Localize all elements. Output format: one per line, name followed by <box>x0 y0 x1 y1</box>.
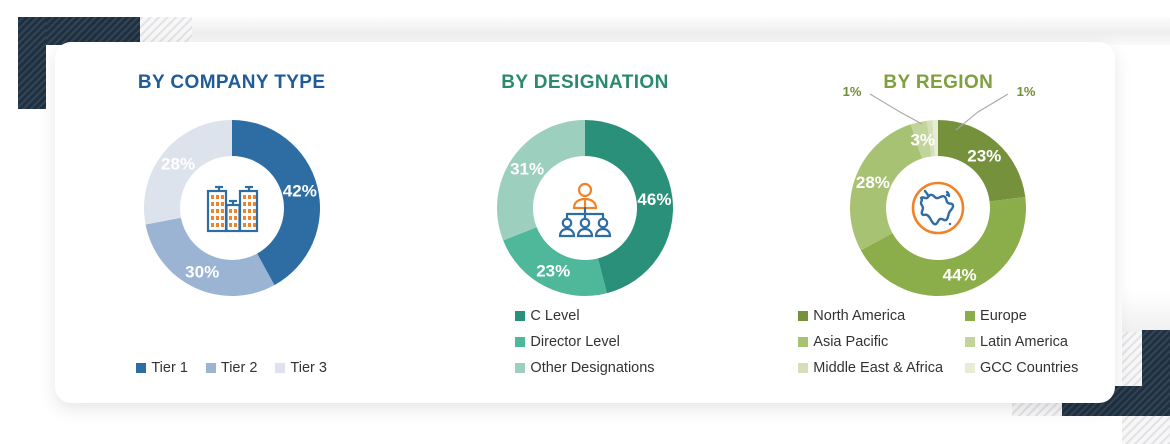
panel-designation: BY DESIGNATION 46%23%31% <box>408 42 761 403</box>
legend-stack: C LevelDirector LevelOther Designations <box>515 303 654 381</box>
bottom-right-navy-stem <box>1142 330 1170 416</box>
slice-percent-label: 23% <box>536 261 570 280</box>
legend-grid: North AmericaEuropeAsia PacificLatin Ame… <box>762 303 1115 381</box>
legend-item[interactable]: North America <box>798 303 943 329</box>
legend-item[interactable]: Tier 1 <box>136 355 188 381</box>
legend-item[interactable]: Europe <box>965 303 1078 329</box>
callout-label-left: 1% <box>843 84 862 99</box>
slice-percent-label: 46% <box>637 190 671 209</box>
legend-swatch <box>206 363 216 373</box>
globe-icon <box>901 171 975 245</box>
legend-swatch <box>515 311 525 321</box>
infographic-card: BY COMPANY TYPE 42%30%28% <box>55 42 1115 403</box>
legend-swatch <box>965 311 975 321</box>
legend-item[interactable]: Tier 3 <box>275 355 327 381</box>
bottom-right-gradient <box>1122 290 1170 332</box>
panel-title-region: BY REGION <box>762 72 1115 94</box>
legend-item[interactable]: Asia Pacific <box>798 329 943 355</box>
legend-label: Director Level <box>530 329 619 355</box>
legend-label: Other Designations <box>530 355 654 381</box>
legend-item[interactable]: GCC Countries <box>965 355 1078 381</box>
panel-region: BY REGION 23%44%28%3% 1% 1% <box>762 42 1115 403</box>
legend-label: Europe <box>980 303 1027 329</box>
panel-company-type: BY COMPANY TYPE 42%30%28% <box>55 42 408 403</box>
slice-percent-label: 42% <box>282 182 316 201</box>
legend-swatch <box>515 363 525 373</box>
office-buildings-icon <box>195 171 269 245</box>
legend-label: C Level <box>530 303 579 329</box>
donut-chart-company-type: 42%30%28% <box>132 108 332 308</box>
slice-percent-label: 30% <box>185 262 219 281</box>
legend-swatch <box>965 363 975 373</box>
legend-item[interactable]: C Level <box>515 303 579 329</box>
legend-designation: C LevelDirector LevelOther Designations <box>408 303 761 381</box>
legend-label: Tier 2 <box>221 355 258 381</box>
slice-percent-label: 44% <box>943 266 977 285</box>
legend-label: GCC Countries <box>980 355 1078 381</box>
legend-label: Asia Pacific <box>813 329 888 355</box>
slice-percent-label: 28% <box>856 173 890 192</box>
slice-percent-label: 3% <box>911 131 936 150</box>
org-hierarchy-icon <box>548 171 622 245</box>
legend-item[interactable]: Tier 2 <box>206 355 258 381</box>
legend-item[interactable]: Director Level <box>515 329 619 355</box>
legend-row: Tier 1Tier 2Tier 3 <box>55 355 408 381</box>
donut-chart-region: 23%44%28%3% 1% 1% <box>838 108 1038 308</box>
panel-title-company-type: BY COMPANY TYPE <box>55 72 408 94</box>
legend-label: North America <box>813 303 905 329</box>
slice-percent-label: 31% <box>510 160 544 179</box>
legend-swatch <box>515 337 525 347</box>
legend-swatch <box>798 363 808 373</box>
panel-title-designation: BY DESIGNATION <box>408 72 761 94</box>
legend-label: Latin America <box>980 329 1068 355</box>
top-gradient-band <box>192 17 1170 45</box>
donut-chart-designation: 46%23%31% <box>485 108 685 308</box>
top-left-navy-stem <box>18 17 46 109</box>
legend-item[interactable]: Middle East & Africa <box>798 355 943 381</box>
legend-label: Middle East & Africa <box>813 355 943 381</box>
legend-region: North AmericaEuropeAsia PacificLatin Ame… <box>762 303 1115 381</box>
legend-item[interactable]: Latin America <box>965 329 1078 355</box>
legend-swatch <box>275 363 285 373</box>
legend-label: Tier 3 <box>290 355 327 381</box>
legend-swatch <box>798 311 808 321</box>
legend-company-type: Tier 1Tier 2Tier 3 <box>55 355 408 381</box>
legend-swatch <box>965 337 975 347</box>
legend-swatch <box>136 363 146 373</box>
slice-percent-label: 23% <box>968 146 1002 165</box>
legend-swatch <box>798 337 808 347</box>
legend-item[interactable]: Other Designations <box>515 355 654 381</box>
legend-label: Tier 1 <box>151 355 188 381</box>
slice-percent-label: 28% <box>161 154 195 173</box>
callout-label-right: 1% <box>1017 84 1036 99</box>
panels-container: BY COMPANY TYPE 42%30%28% <box>55 42 1115 403</box>
top-left-hatch-block <box>140 17 192 45</box>
